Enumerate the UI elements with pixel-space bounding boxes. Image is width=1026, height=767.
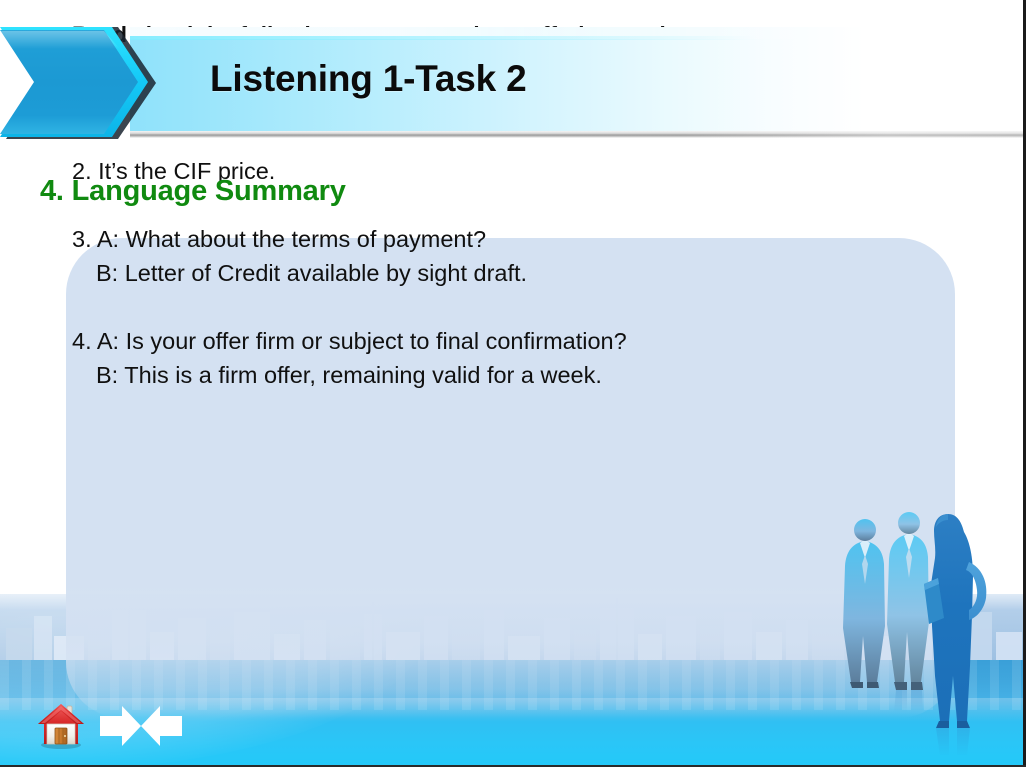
header-gloss-accent xyxy=(130,36,1026,40)
sentence-line-3b: B: Letter of Credit available by sight d… xyxy=(72,256,853,290)
silhouette-man-middle xyxy=(887,512,929,690)
section-heading: 4. Language Summary xyxy=(40,175,346,208)
home-icon[interactable] xyxy=(34,700,88,750)
navigation-icons xyxy=(34,700,184,756)
business-people-silhouette xyxy=(836,506,1016,767)
slide-canvas: Read aloud the following sentences about… xyxy=(0,0,1026,767)
silhouette-man-left xyxy=(843,519,885,688)
line-spacer-3 xyxy=(72,290,853,324)
arrow-left-icon xyxy=(141,706,182,746)
sentence-line-4a: 4. A: Is your offer firm or subject to f… xyxy=(72,324,853,358)
sentence-line-4b: B: This is a firm offer, remaining valid… xyxy=(72,358,853,392)
navigation-arrow-pair[interactable] xyxy=(100,706,182,746)
header-divider-fade xyxy=(680,131,1026,138)
page-title: Listening 1-Task 2 xyxy=(210,58,526,100)
silhouette-woman-right xyxy=(924,514,986,728)
sentence-line-3a: 3. A: What about the terms of payment? xyxy=(72,222,853,256)
arrow-right-icon xyxy=(100,706,141,746)
